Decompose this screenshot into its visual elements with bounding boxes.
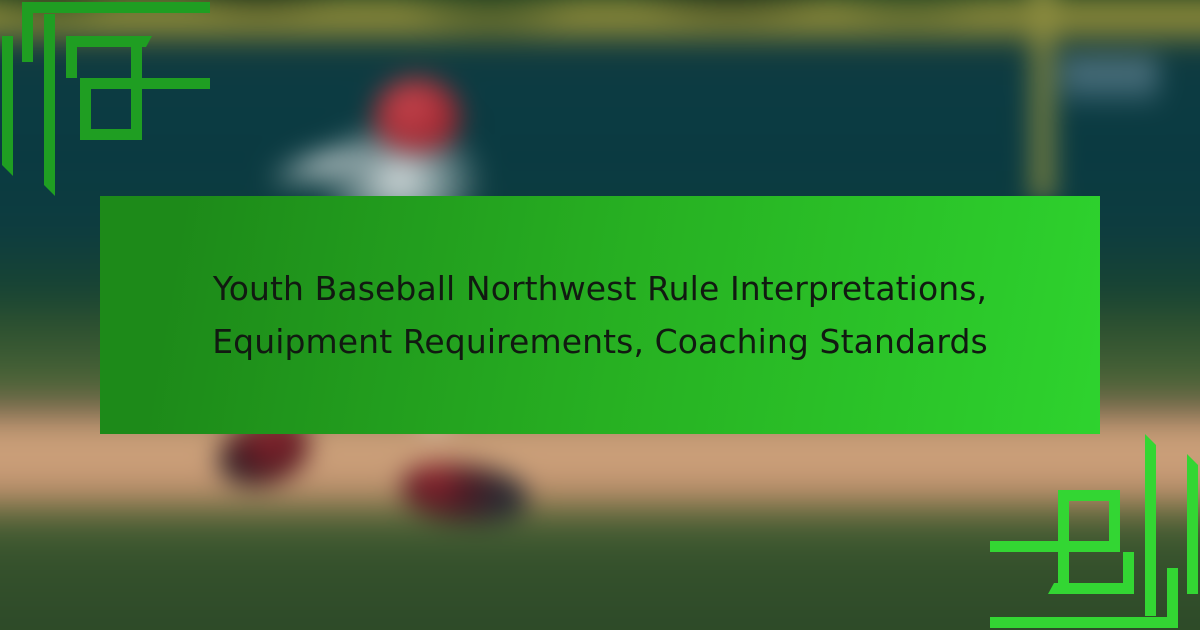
outfield-signage: [1062, 58, 1158, 102]
foul-pole: [1028, 0, 1058, 200]
pitcher-helmet: [374, 78, 460, 152]
title-banner: Youth Baseball Northwest Rule Interpreta…: [100, 196, 1100, 434]
corner-bracket-top-left-icon: [0, 0, 210, 200]
corner-bracket-bottom-right-icon: [990, 430, 1200, 630]
title-card: Youth Baseball Northwest Rule Interpreta…: [0, 0, 1200, 630]
page-title: Youth Baseball Northwest Rule Interpreta…: [205, 262, 995, 369]
